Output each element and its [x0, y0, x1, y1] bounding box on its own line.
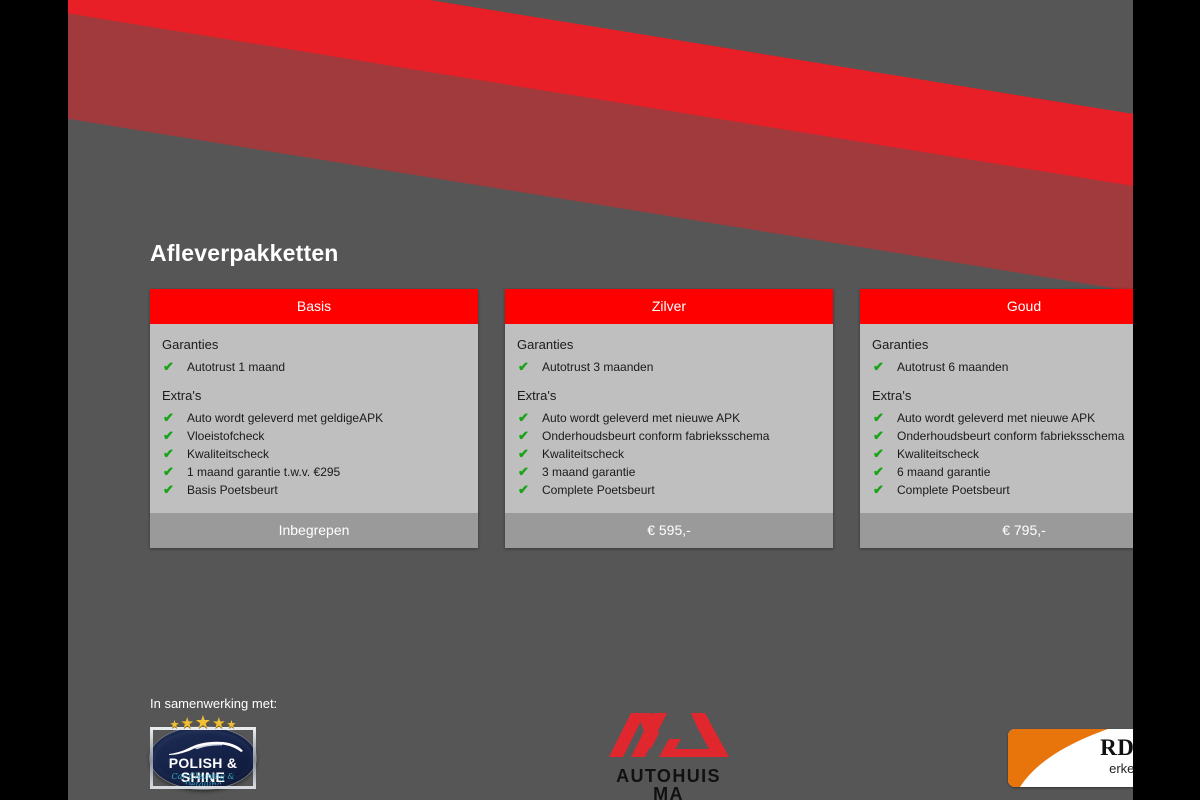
list-item-label: Vloeistofcheck	[187, 427, 468, 445]
package-header-goud: Goud	[860, 289, 1133, 324]
check-icon: ✔	[163, 463, 187, 481]
check-icon: ✔	[873, 445, 897, 463]
list-item-label: Auto wordt geleverd met nieuwe APK	[542, 409, 823, 427]
list-item: ✔ Auto wordt geleverd met nieuwe APK	[515, 409, 823, 427]
star-icon: ★	[227, 720, 237, 731]
warranty-list: ✔ Autotrust 6 maanden	[870, 358, 1133, 376]
autohuis-ma-logo: AUTOHUIS MA	[601, 705, 736, 793]
list-item: ✔ 3 maand garantie	[515, 463, 823, 481]
package-card-goud[interactable]: Goud Garanties ✔ Autotrust 6 maanden Ext…	[860, 289, 1133, 548]
package-cards: Basis Garanties ✔ Autotrust 1 maand Extr…	[150, 289, 1133, 548]
list-item-label: Auto wordt geleverd met geldigeAPK	[187, 409, 468, 427]
star-icon: ★	[180, 716, 193, 731]
warranty-list: ✔ Autotrust 1 maand	[160, 358, 468, 376]
list-item: ✔ Auto wordt geleverd met nieuwe APK	[870, 409, 1133, 427]
check-icon: ✔	[518, 409, 542, 427]
list-item-label: Onderhoudsbeurt conform fabrieksschema	[542, 427, 823, 445]
list-item-label: 6 maand garantie	[897, 463, 1133, 481]
list-item-label: Auto wordt geleverd met nieuwe APK	[897, 409, 1133, 427]
star-icon: ★	[170, 720, 180, 731]
list-item-label: Kwaliteitscheck	[897, 445, 1133, 463]
list-item-label: Complete Poetsbeurt	[897, 481, 1133, 499]
logo-tagline: Car Cleaning & Detailing	[153, 773, 253, 789]
content-panel: Afleverpakketten Basis Garanties ✔ Autot…	[68, 0, 1133, 800]
warranty-heading: Garanties	[517, 337, 823, 352]
list-item-label: Kwaliteitscheck	[542, 445, 823, 463]
check-icon: ✔	[163, 358, 187, 376]
list-item: ✔ Autotrust 3 maanden	[515, 358, 823, 376]
rdw-text-block: RDW erkend	[1086, 736, 1133, 777]
check-icon: ✔	[163, 409, 187, 427]
list-item: ✔ Kwaliteitscheck	[870, 445, 1133, 463]
extras-list: ✔ Auto wordt geleverd met nieuwe APK ✔ O…	[870, 409, 1133, 499]
extras-heading: Extra's	[872, 388, 1133, 403]
check-icon: ✔	[518, 481, 542, 499]
rdw-sub-label: erkend	[1086, 761, 1133, 777]
list-item: ✔ Autotrust 6 maanden	[870, 358, 1133, 376]
extras-heading: Extra's	[517, 388, 823, 403]
package-price-zilver[interactable]: € 595,-	[505, 513, 833, 548]
star-icon: ★	[195, 713, 211, 731]
list-item-label: Kwaliteitscheck	[187, 445, 468, 463]
list-item: ✔ Kwaliteitscheck	[160, 445, 468, 463]
check-icon: ✔	[873, 427, 897, 445]
check-icon: ✔	[518, 358, 542, 376]
list-item: ✔ Autotrust 1 maand	[160, 358, 468, 376]
check-icon: ✔	[518, 427, 542, 445]
warranty-list: ✔ Autotrust 3 maanden	[515, 358, 823, 376]
rdw-main-label: RDW	[1086, 736, 1133, 760]
ma-monogram-icon	[601, 705, 736, 763]
package-header-basis: Basis	[150, 289, 478, 324]
extras-list: ✔ Auto wordt geleverd met geldigeAPK ✔ V…	[160, 409, 468, 499]
check-icon: ✔	[163, 481, 187, 499]
list-item: ✔ Basis Poetsbeurt	[160, 481, 468, 499]
page-title: Afleverpakketten	[150, 240, 339, 267]
star-icon: ★	[212, 716, 225, 731]
list-item: ✔ Complete Poetsbeurt	[515, 481, 823, 499]
warranty-heading: Garanties	[162, 337, 468, 352]
list-item: ✔ Onderhoudsbeurt conform fabrieksschema	[515, 427, 823, 445]
stars-row: ★ ★ ★ ★ ★	[156, 713, 250, 731]
package-body-zilver: Garanties ✔ Autotrust 3 maanden Extra's …	[505, 324, 833, 513]
list-item: ✔ 6 maand garantie	[870, 463, 1133, 481]
check-icon: ✔	[873, 463, 897, 481]
package-card-basis[interactable]: Basis Garanties ✔ Autotrust 1 maand Extr…	[150, 289, 478, 548]
list-item: ✔ Complete Poetsbeurt	[870, 481, 1133, 499]
list-item: ✔ Auto wordt geleverd met geldigeAPK	[160, 409, 468, 427]
check-icon: ✔	[518, 463, 542, 481]
extras-list: ✔ Auto wordt geleverd met nieuwe APK ✔ O…	[515, 409, 823, 499]
polish-and-shine-logo: ★ ★ ★ ★ ★ POLISH & SHINE Car Cleaning & …	[148, 713, 258, 791]
list-item-label: Complete Poetsbeurt	[542, 481, 823, 499]
check-icon: ✔	[518, 445, 542, 463]
package-price-goud[interactable]: € 795,-	[860, 513, 1133, 548]
list-item-label: 1 maand garantie t.w.v. €295	[187, 463, 468, 481]
list-item: ✔ Vloeistofcheck	[160, 427, 468, 445]
package-price-basis[interactable]: Inbegrepen	[150, 513, 478, 548]
ma-wordmark: AUTOHUIS MA	[601, 767, 736, 800]
list-item-label: Basis Poetsbeurt	[187, 481, 468, 499]
check-icon: ✔	[873, 481, 897, 499]
check-icon: ✔	[163, 427, 187, 445]
extras-heading: Extra's	[162, 388, 468, 403]
screenshot-root: Afleverpakketten Basis Garanties ✔ Autot…	[0, 0, 1200, 800]
logo-oval: POLISH & SHINE Car Cleaning & Detailing	[150, 727, 256, 789]
warranty-heading: Garanties	[872, 337, 1133, 352]
list-item-label: 3 maand garantie	[542, 463, 823, 481]
package-body-basis: Garanties ✔ Autotrust 1 maand Extra's ✔ …	[150, 324, 478, 513]
package-card-zilver[interactable]: Zilver Garanties ✔ Autotrust 3 maanden E…	[505, 289, 833, 548]
list-item: ✔ 1 maand garantie t.w.v. €295	[160, 463, 468, 481]
check-icon: ✔	[163, 445, 187, 463]
check-icon: ✔	[873, 358, 897, 376]
banner-stripe-dark	[68, 0, 1133, 320]
package-header-zilver: Zilver	[505, 289, 833, 324]
list-item-label: Autotrust 3 maanden	[542, 358, 823, 376]
list-item-label: Onderhoudsbeurt conform fabrieksschema	[897, 427, 1133, 445]
list-item-label: Autotrust 1 maand	[187, 358, 468, 376]
list-item: ✔ Onderhoudsbeurt conform fabrieksschema	[870, 427, 1133, 445]
list-item-label: Autotrust 6 maanden	[897, 358, 1133, 376]
check-icon: ✔	[873, 409, 897, 427]
rdw-erkend-logo: RDW erkend	[1008, 729, 1133, 787]
package-body-goud: Garanties ✔ Autotrust 6 maanden Extra's …	[860, 324, 1133, 513]
list-item: ✔ Kwaliteitscheck	[515, 445, 823, 463]
partners-label: In samenwerking met:	[150, 696, 277, 711]
